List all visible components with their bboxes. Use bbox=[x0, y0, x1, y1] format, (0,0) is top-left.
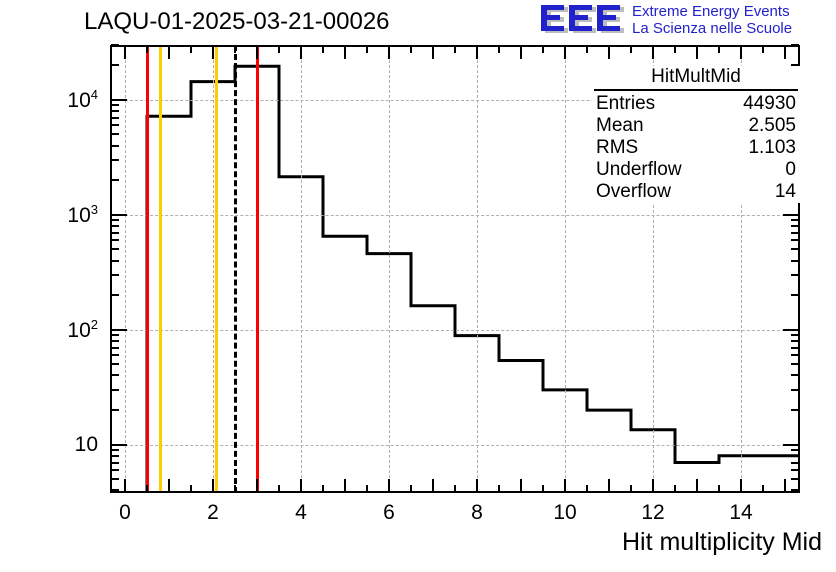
y-tick-minor bbox=[111, 354, 119, 356]
x-tick-major bbox=[696, 479, 698, 492]
y-tick-minor bbox=[111, 409, 119, 411]
y-tick-minor bbox=[111, 124, 119, 126]
y-tick-minor bbox=[111, 462, 119, 464]
stats-row: RMS1.103 bbox=[592, 137, 800, 159]
eee-logo-text: Extreme Energy Events La Scienza nelle S… bbox=[632, 3, 792, 37]
stats-row-value: 1.103 bbox=[748, 137, 796, 159]
x-tick-minor-top bbox=[234, 46, 236, 53]
x-tick-major-top bbox=[608, 46, 610, 59]
y-tick-minor-right bbox=[791, 347, 799, 349]
y-tick-minor bbox=[111, 340, 119, 342]
stats-row-key: RMS bbox=[596, 137, 638, 159]
y-tick-minor bbox=[111, 489, 119, 491]
stats-row-value: 2.505 bbox=[748, 115, 796, 137]
y-tick-minor bbox=[111, 455, 119, 457]
x-tick-major bbox=[476, 479, 478, 492]
y-tick-minor-right bbox=[791, 478, 799, 480]
x-tick-minor-top bbox=[674, 46, 676, 53]
x-tick-label: 4 bbox=[295, 501, 307, 525]
y-tick-minor-right bbox=[791, 225, 799, 227]
x-tick-minor bbox=[762, 485, 764, 492]
x-tick-major bbox=[168, 479, 170, 492]
y-tick-major bbox=[111, 214, 127, 216]
stats-title: HitMultMid bbox=[592, 66, 800, 89]
x-tick-minor-top bbox=[454, 46, 456, 53]
stats-row: Entries44930 bbox=[592, 93, 800, 115]
stats-row-key: Entries bbox=[596, 93, 655, 115]
x-tick-label: 2 bbox=[207, 501, 219, 525]
y-tick-minor-right bbox=[791, 374, 799, 376]
y-tick-minor bbox=[111, 334, 119, 336]
y-tick-minor bbox=[111, 44, 119, 46]
x-tick-major-top bbox=[740, 46, 742, 59]
stats-row-value: 0 bbox=[785, 159, 796, 181]
x-tick-minor bbox=[190, 485, 192, 492]
x-tick-minor-top bbox=[410, 46, 412, 53]
y-tick-minor-right bbox=[791, 455, 799, 457]
x-tick-major bbox=[564, 479, 566, 492]
y-tick-major bbox=[111, 99, 127, 101]
y-tick-minor-right bbox=[791, 462, 799, 464]
y-tick-minor bbox=[111, 104, 119, 106]
y-tick-minor bbox=[111, 117, 119, 119]
x-tick-minor bbox=[454, 485, 456, 492]
y-tick-minor bbox=[111, 449, 119, 451]
stats-row-value: 14 bbox=[775, 181, 796, 203]
y-tick-minor bbox=[111, 469, 119, 471]
y-tick-minor bbox=[111, 294, 119, 296]
x-tick-major bbox=[256, 479, 258, 492]
y-tick-minor-right bbox=[791, 260, 799, 262]
y-tick-minor-right bbox=[791, 232, 799, 234]
x-tick-major-top bbox=[784, 46, 786, 59]
stats-row: Mean2.505 bbox=[592, 115, 800, 137]
y-tick-minor-right bbox=[791, 294, 799, 296]
x-tick-minor-top bbox=[322, 46, 324, 53]
y-tick-minor bbox=[111, 274, 119, 276]
x-axis-title: Hit multiplicity Mid bbox=[622, 528, 822, 557]
y-tick-minor-right bbox=[791, 239, 799, 241]
x-tick-label: 12 bbox=[641, 501, 664, 525]
x-tick-major bbox=[344, 479, 346, 492]
page-title: LAQU-01-2025-03-21-00026 bbox=[84, 8, 390, 36]
x-tick-minor bbox=[322, 485, 324, 492]
y-tick-major-right bbox=[783, 444, 799, 446]
y-tick-minor bbox=[111, 219, 119, 221]
x-tick-major bbox=[124, 479, 126, 492]
y-tick-minor bbox=[111, 179, 119, 181]
x-tick-major bbox=[388, 479, 390, 492]
stats-row: Overflow14 bbox=[592, 181, 800, 203]
x-tick-major-top bbox=[432, 46, 434, 59]
x-tick-minor-top bbox=[190, 46, 192, 53]
y-tick-minor bbox=[111, 248, 119, 250]
x-tick-minor-top bbox=[542, 46, 544, 53]
y-tick-minor-right bbox=[791, 469, 799, 471]
x-tick-major-top bbox=[344, 46, 346, 59]
x-tick-label: 8 bbox=[471, 501, 483, 525]
y-tick-major-right bbox=[783, 214, 799, 216]
x-tick-major-top bbox=[256, 46, 258, 59]
x-tick-major bbox=[520, 479, 522, 492]
stats-divider bbox=[594, 89, 798, 91]
x-tick-major-top bbox=[388, 46, 390, 59]
x-tick-major-top bbox=[212, 46, 214, 59]
stats-row-key: Mean bbox=[596, 115, 644, 137]
x-tick-minor bbox=[234, 485, 236, 492]
x-tick-label: 0 bbox=[119, 501, 131, 525]
x-tick-minor bbox=[278, 485, 280, 492]
x-tick-label: 14 bbox=[729, 501, 752, 525]
x-tick-major bbox=[652, 479, 654, 492]
y-tick-label: 103 bbox=[0, 202, 98, 228]
y-tick-minor-right bbox=[791, 44, 799, 46]
y-tick-major bbox=[111, 329, 127, 331]
eee-logo: Extreme Energy Events La Scienza nelle S… bbox=[540, 2, 832, 42]
y-tick-minor bbox=[111, 260, 119, 262]
x-tick-major-top bbox=[652, 46, 654, 59]
x-tick-minor bbox=[542, 485, 544, 492]
y-tick-minor-right bbox=[791, 409, 799, 411]
x-tick-major-top bbox=[168, 46, 170, 59]
y-tick-minor bbox=[111, 145, 119, 147]
y-tick-minor bbox=[111, 374, 119, 376]
x-tick-major bbox=[784, 479, 786, 492]
x-tick-minor bbox=[674, 485, 676, 492]
x-tick-minor-top bbox=[762, 46, 764, 53]
x-tick-minor bbox=[366, 485, 368, 492]
stats-row-value: 44930 bbox=[743, 93, 796, 115]
x-tick-major bbox=[212, 479, 214, 492]
x-tick-minor-top bbox=[498, 46, 500, 53]
x-tick-minor bbox=[410, 485, 412, 492]
x-tick-minor-top bbox=[366, 46, 368, 53]
stats-rows: Entries44930Mean2.505RMS1.103Underflow0O… bbox=[592, 93, 800, 203]
y-tick-major-right bbox=[783, 329, 799, 331]
y-tick-minor bbox=[111, 478, 119, 480]
y-tick-minor bbox=[111, 239, 119, 241]
y-tick-minor bbox=[111, 159, 119, 161]
stats-row-key: Overflow bbox=[596, 181, 671, 203]
x-tick-major bbox=[432, 479, 434, 492]
x-tick-label: 6 bbox=[383, 501, 395, 525]
x-tick-major-top bbox=[300, 46, 302, 59]
x-tick-minor bbox=[718, 485, 720, 492]
y-tick-minor-right bbox=[791, 334, 799, 336]
y-tick-minor-right bbox=[791, 340, 799, 342]
y-tick-minor-right bbox=[791, 389, 799, 391]
y-tick-minor-right bbox=[791, 274, 799, 276]
x-tick-minor-top bbox=[278, 46, 280, 53]
y-tick-minor bbox=[111, 389, 119, 391]
x-tick-major-top bbox=[564, 46, 566, 59]
x-tick-label: 10 bbox=[553, 501, 576, 525]
y-tick-minor bbox=[111, 347, 119, 349]
y-tick-minor-right bbox=[791, 219, 799, 221]
y-tick-minor-right bbox=[791, 489, 799, 491]
x-tick-minor bbox=[498, 485, 500, 492]
stats-box: HitMultMid Entries44930Mean2.505RMS1.103… bbox=[592, 66, 800, 203]
x-tick-minor-top bbox=[718, 46, 720, 53]
x-tick-minor-top bbox=[630, 46, 632, 53]
x-tick-minor bbox=[630, 485, 632, 492]
y-tick-minor bbox=[111, 64, 119, 66]
y-tick-minor bbox=[111, 363, 119, 365]
y-tick-label: 10 bbox=[0, 433, 98, 457]
x-tick-major bbox=[300, 479, 302, 492]
y-tick-label: 102 bbox=[0, 317, 98, 343]
y-tick-minor-right bbox=[791, 363, 799, 365]
stats-row-key: Underflow bbox=[596, 159, 682, 181]
eee-logo-mark bbox=[540, 4, 626, 38]
y-tick-minor bbox=[111, 232, 119, 234]
y-tick-minor-right bbox=[791, 449, 799, 451]
y-tick-minor bbox=[111, 110, 119, 112]
x-tick-major-top bbox=[124, 46, 126, 59]
x-tick-major-top bbox=[476, 46, 478, 59]
y-tick-minor bbox=[111, 225, 119, 227]
x-tick-minor-top bbox=[146, 46, 148, 53]
x-tick-major-top bbox=[696, 46, 698, 59]
x-tick-minor bbox=[586, 485, 588, 492]
y-tick-major bbox=[111, 444, 127, 446]
x-tick-major bbox=[608, 479, 610, 492]
x-tick-major-top bbox=[520, 46, 522, 59]
y-tick-minor bbox=[111, 133, 119, 135]
x-tick-minor bbox=[146, 485, 148, 492]
x-tick-major bbox=[740, 479, 742, 492]
y-tick-minor-right bbox=[791, 354, 799, 356]
eee-logo-line1: Extreme Energy Events bbox=[632, 3, 792, 20]
eee-logo-line2: La Scienza nelle Scuole bbox=[632, 20, 792, 37]
y-tick-minor-right bbox=[791, 248, 799, 250]
x-tick-minor-top bbox=[586, 46, 588, 53]
y-tick-label: 104 bbox=[0, 87, 98, 113]
stats-row: Underflow0 bbox=[592, 159, 800, 181]
root-canvas: LAQU-01-2025-03-21-00026 Extreme Energy … bbox=[0, 0, 836, 572]
